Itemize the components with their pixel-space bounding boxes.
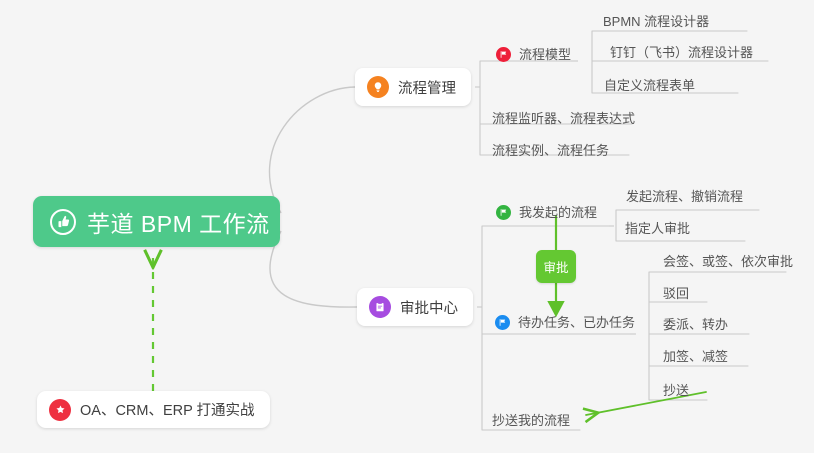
node-cc-to-me-process[interactable]: 抄送我的流程 bbox=[492, 414, 570, 427]
branch-label-process-management: 流程管理 bbox=[398, 77, 456, 98]
star-icon bbox=[49, 399, 71, 421]
branch-node-process-management[interactable]: 流程管理 bbox=[355, 68, 471, 106]
node-process-listener-expression[interactable]: 流程监听器、流程表达式 bbox=[492, 112, 635, 125]
node-custom-process-form[interactable]: 自定义流程表单 bbox=[604, 79, 695, 92]
branch-label-approval-center: 审批中心 bbox=[400, 297, 458, 318]
node-add-remove-sign[interactable]: 加签、减签 bbox=[663, 350, 728, 363]
node-label-todo-done-task: 待办任务、已办任务 bbox=[518, 316, 635, 329]
wire-root-to-process bbox=[269, 87, 355, 213]
node-todo-done-task[interactable]: 待办任务、已办任务 bbox=[495, 315, 635, 330]
flag-icon bbox=[495, 315, 510, 330]
mindmap-canvas: 芋道 BPM 工作流 流程管理 流程模型 BPMN 流程设计器 钉钉（飞书）流程… bbox=[0, 0, 814, 453]
flag-icon bbox=[496, 205, 511, 220]
node-bpmn-designer[interactable]: BPMN 流程设计器 bbox=[603, 15, 709, 28]
approve-tag-label: 审批 bbox=[543, 257, 568, 276]
node-label-my-initiated-process: 我发起的流程 bbox=[519, 206, 597, 219]
node-label-process-model: 流程模型 bbox=[519, 48, 571, 61]
branch-node-approval-center[interactable]: 审批中心 bbox=[357, 288, 473, 326]
approve-tag[interactable]: 审批 bbox=[536, 250, 576, 283]
node-my-initiated-process[interactable]: 我发起的流程 bbox=[496, 205, 597, 220]
flag-icon bbox=[496, 47, 511, 62]
node-process-instance-task[interactable]: 流程实例、流程任务 bbox=[492, 144, 609, 157]
thumbs-up-icon bbox=[50, 209, 76, 235]
node-cc[interactable]: 抄送 bbox=[663, 384, 689, 397]
callout-node-oa-crm-erp[interactable]: OA、CRM、ERP 打通实战 bbox=[37, 391, 270, 428]
clipboard-icon bbox=[369, 296, 391, 318]
root-node[interactable]: 芋道 BPM 工作流 bbox=[33, 196, 280, 247]
node-start-cancel-process[interactable]: 发起流程、撤销流程 bbox=[626, 190, 743, 203]
node-delegate-transfer[interactable]: 委派、转办 bbox=[663, 318, 728, 331]
lightbulb-icon bbox=[367, 76, 389, 98]
wire-root-to-approval bbox=[270, 231, 357, 307]
node-dingtalk-feishu-designer[interactable]: 钉钉（飞书）流程设计器 bbox=[610, 46, 753, 59]
root-label: 芋道 BPM 工作流 bbox=[87, 205, 270, 239]
node-reject[interactable]: 驳回 bbox=[663, 287, 689, 300]
callout-label-oa-crm-erp: OA、CRM、ERP 打通实战 bbox=[80, 399, 255, 420]
node-assignee-approval[interactable]: 指定人审批 bbox=[625, 222, 690, 235]
node-multi-sign[interactable]: 会签、或签、依次审批 bbox=[663, 255, 793, 268]
node-process-model[interactable]: 流程模型 bbox=[496, 47, 571, 62]
wire-process-bracket bbox=[480, 61, 632, 155]
